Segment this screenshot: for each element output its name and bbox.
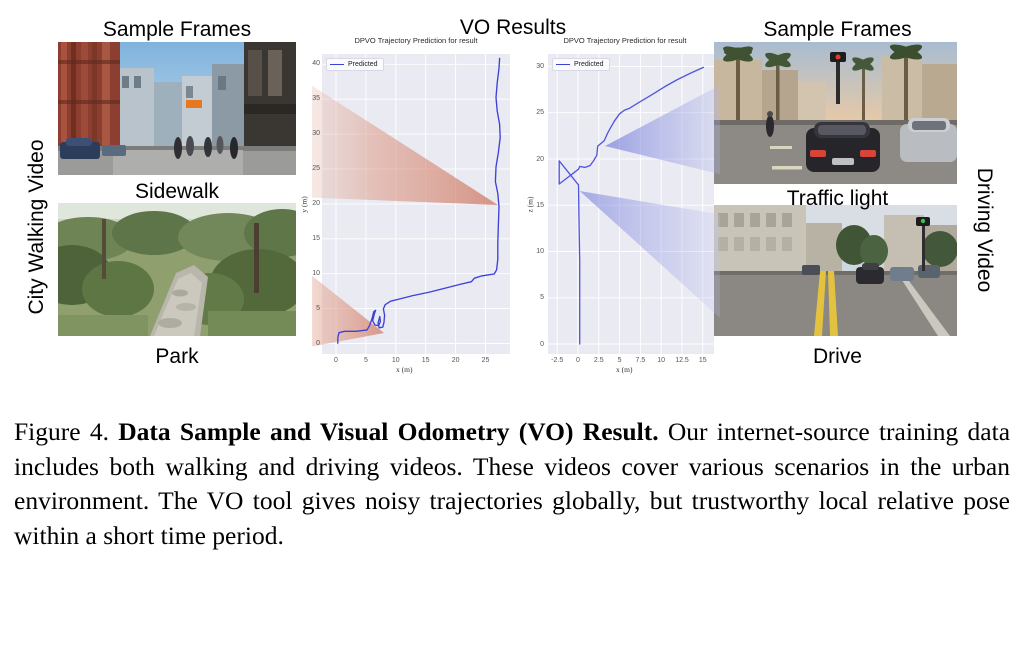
vo-plot-walking: DPVO Trajectory Prediction for result bbox=[312, 36, 520, 366]
legend-driving: Predicted bbox=[552, 58, 610, 71]
xaxis-label-walking: x (m) bbox=[396, 365, 412, 374]
xtick-n2p5: -2.5 bbox=[546, 357, 568, 364]
ztick-5: 5 bbox=[532, 294, 544, 301]
ztick-10: 10 bbox=[530, 248, 544, 255]
figure-region: Sample Frames VO Results Sample Frames C… bbox=[0, 0, 1024, 400]
xtick-10p0: 10 bbox=[650, 357, 672, 364]
photo-drive bbox=[714, 205, 957, 336]
photo-city-street bbox=[58, 42, 296, 175]
xaxis-label-driving: x (m) bbox=[616, 365, 632, 374]
ytick-25: 25 bbox=[308, 165, 320, 172]
ytick-40: 40 bbox=[308, 60, 320, 67]
ztick-30: 30 bbox=[530, 63, 544, 70]
photo-traffic-light bbox=[714, 42, 957, 184]
ztick-20: 20 bbox=[530, 156, 544, 163]
legend-label-predicted: Predicted bbox=[348, 61, 378, 68]
photo-park-sidewalk bbox=[58, 203, 296, 336]
ztick-0: 0 bbox=[532, 341, 544, 348]
xtick-5p0: 5 bbox=[609, 357, 631, 364]
xtick-2p5: 2.5 bbox=[588, 357, 610, 364]
xtick-10: 10 bbox=[388, 357, 404, 364]
ytick-20: 20 bbox=[308, 200, 320, 207]
xtick-25: 25 bbox=[478, 357, 494, 364]
figure-page: Sample Frames VO Results Sample Frames C… bbox=[0, 0, 1024, 670]
ytick-0: 0 bbox=[310, 340, 320, 347]
xtick-0: 0 bbox=[328, 357, 344, 364]
ytick-10: 10 bbox=[308, 270, 320, 277]
sub-label-drive: Drive bbox=[715, 345, 960, 369]
column-title-sample-frames-right: Sample Frames bbox=[715, 18, 960, 42]
side-label-city-walking-video: City Walking Video bbox=[25, 127, 49, 327]
legend-label-predicted: Predicted bbox=[574, 61, 604, 68]
xtick-0p0: 0 bbox=[567, 357, 589, 364]
vo-plot-driving: DPVO Trajectory Prediction for result bbox=[530, 36, 720, 366]
yaxis-label-walking: y (m) bbox=[300, 196, 309, 212]
xtick-20: 20 bbox=[448, 357, 464, 364]
caption-figure-number: Figure 4. bbox=[14, 417, 109, 446]
sub-label-park: Park bbox=[57, 345, 297, 369]
sub-label-sidewalk: Sidewalk bbox=[57, 180, 297, 204]
legend-walking: Predicted bbox=[326, 58, 384, 71]
xtick-15: 15 bbox=[418, 357, 434, 364]
ytick-35: 35 bbox=[308, 95, 320, 102]
figure-caption: Figure 4. Data Sample and Visual Odometr… bbox=[14, 415, 1010, 554]
xtick-12p5: 12.5 bbox=[671, 357, 693, 364]
zaxis-label-driving: z (m) bbox=[526, 196, 535, 212]
xtick-15p0: 15 bbox=[692, 357, 714, 364]
sub-label-traffic-light: Traffic light bbox=[715, 187, 960, 211]
ztick-25: 25 bbox=[530, 109, 544, 116]
ytick-5: 5 bbox=[310, 305, 320, 312]
column-title-sample-frames-left: Sample Frames bbox=[57, 18, 297, 42]
legend-line-icon bbox=[556, 64, 570, 65]
ytick-15: 15 bbox=[308, 235, 320, 242]
xtick-7p5: 7.5 bbox=[629, 357, 651, 364]
caption-bold-title: Data Sample and Visual Odometry (VO) Res… bbox=[118, 417, 658, 446]
side-label-driving-video: Driving Video bbox=[972, 150, 996, 310]
legend-line-icon bbox=[330, 64, 344, 65]
xtick-5: 5 bbox=[358, 357, 374, 364]
ytick-30: 30 bbox=[308, 130, 320, 137]
